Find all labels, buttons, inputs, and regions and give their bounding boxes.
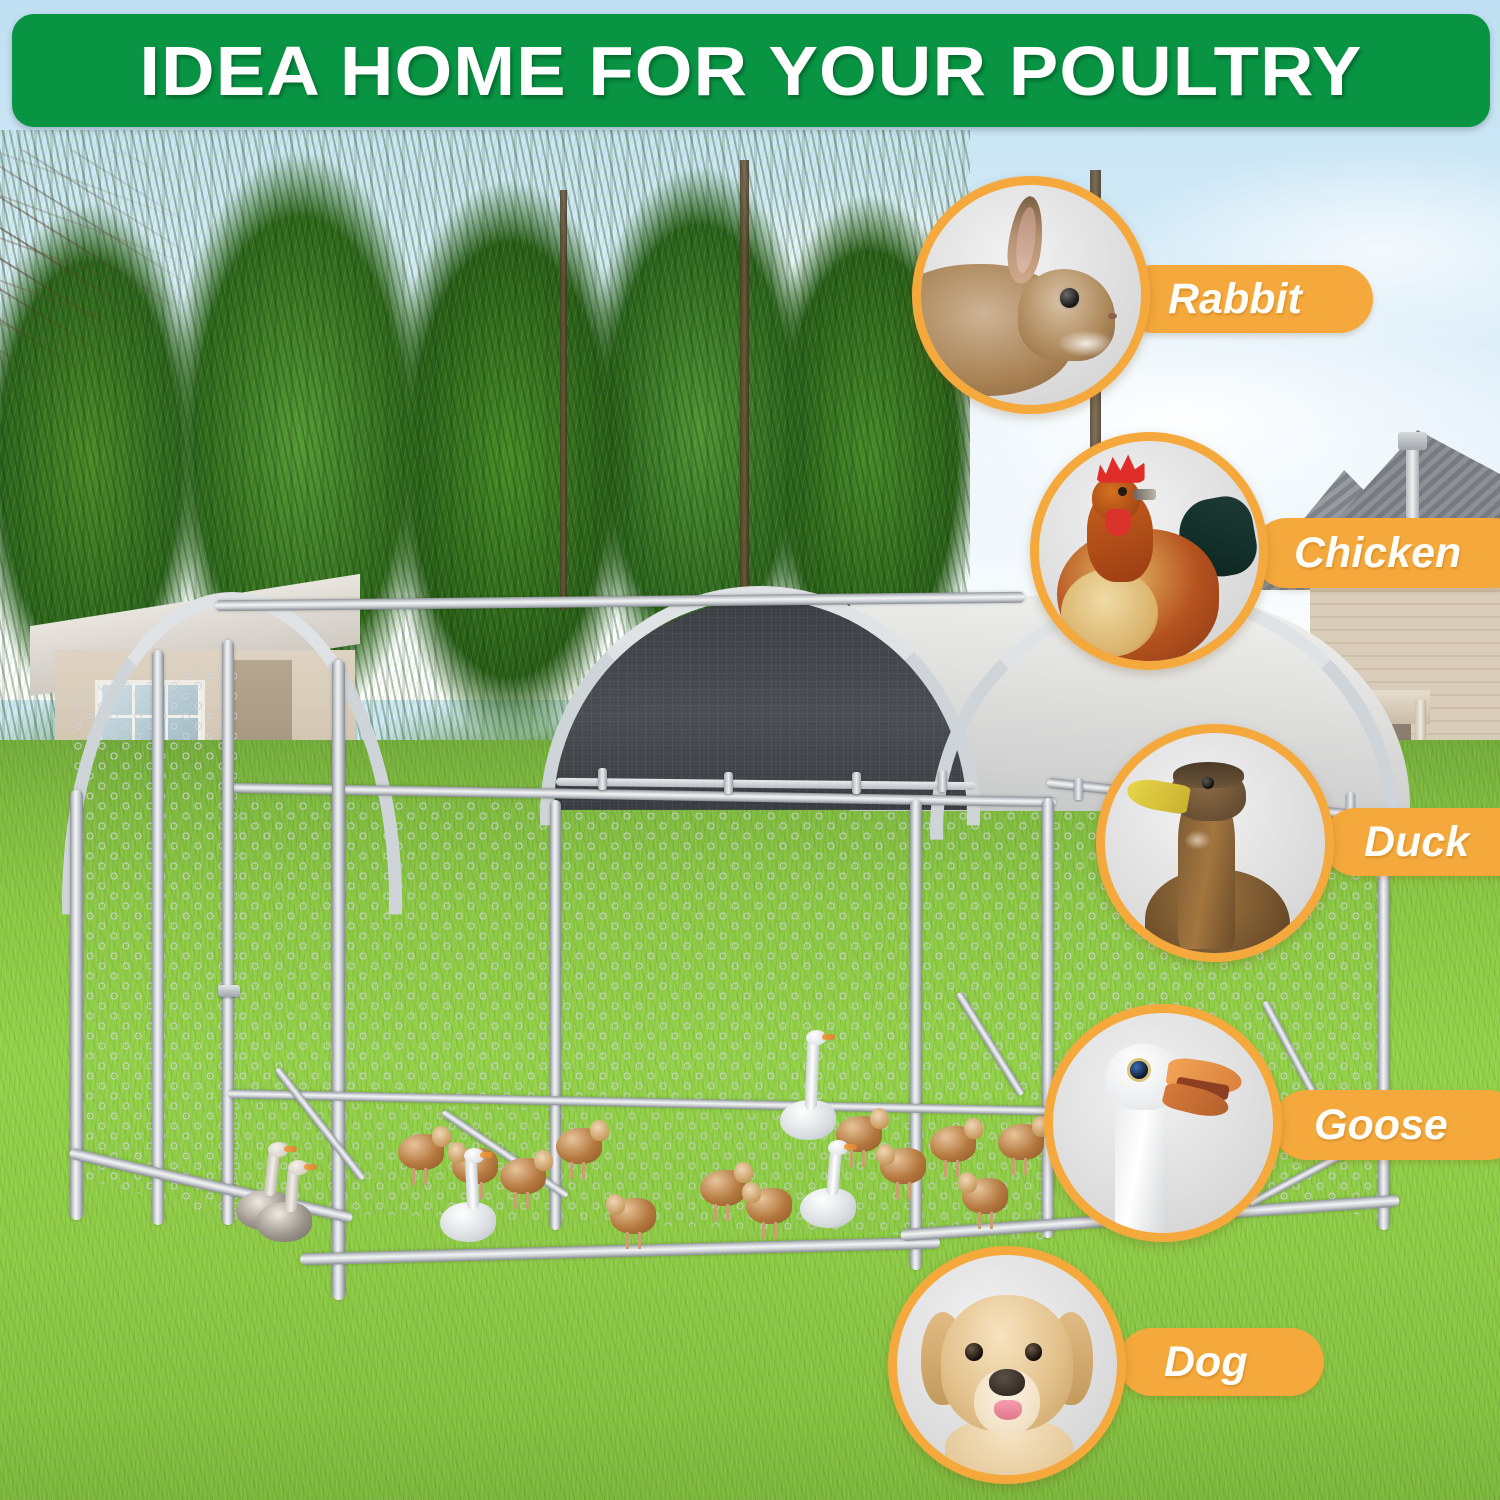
rooster-photo-icon [1030, 432, 1268, 670]
badge-label-pill-goose: Goose [1272, 1090, 1500, 1160]
badge-label-pill-rabbit: Rabbit [1120, 265, 1373, 333]
badge-label-dog: Dog [1164, 1338, 1248, 1387]
badge-label-duck: Duck [1364, 818, 1469, 867]
product-marketing-image: IDEA HOME FOR YOUR POULTRY Rabbit Chicke… [0, 0, 1500, 1500]
badge-label-rabbit: Rabbit [1168, 275, 1302, 324]
badge-label-goose: Goose [1314, 1101, 1448, 1150]
bare-branches [0, 150, 390, 480]
badge-label-chicken: Chicken [1294, 529, 1461, 578]
duck-photo-icon [1096, 724, 1334, 962]
goose-photo-icon [1044, 1004, 1282, 1242]
page-title: IDEA HOME FOR YOUR POULTRY [139, 31, 1362, 111]
puppy-photo-icon [888, 1246, 1126, 1484]
tree-trunk [560, 190, 567, 610]
badge-label-pill-dog: Dog [1118, 1328, 1324, 1396]
porch-soffit [1270, 690, 1430, 724]
tree-trunk [740, 160, 749, 630]
rabbit-photo-icon [912, 176, 1150, 414]
badge-label-pill-chicken: Chicken [1252, 518, 1500, 588]
headline-banner: IDEA HOME FOR YOUR POULTRY [12, 14, 1490, 127]
chimney-cap [1398, 432, 1427, 450]
badge-label-pill-duck: Duck [1322, 808, 1500, 876]
